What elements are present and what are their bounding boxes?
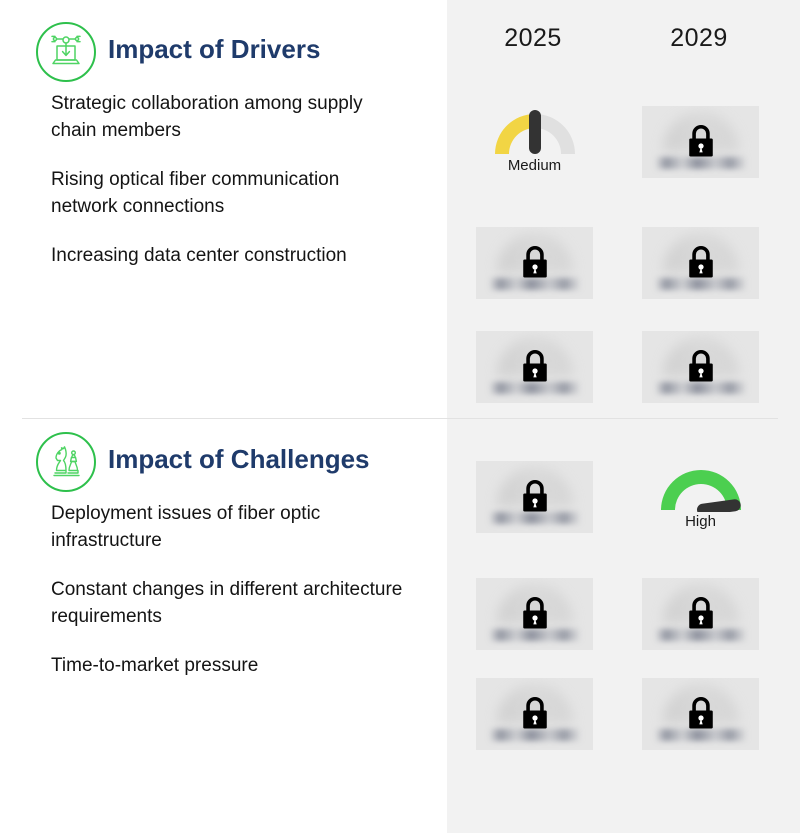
rating-cell-drivers-1-2029[interactable] <box>642 106 759 178</box>
drivers-laptop-gear-icon <box>36 22 96 82</box>
gauge-high: High <box>642 462 759 548</box>
lock-icon <box>518 695 552 731</box>
locked-placeholder[interactable] <box>476 227 593 299</box>
driver-item: Strategic collaboration among supply cha… <box>51 90 407 144</box>
locked-placeholder[interactable] <box>642 106 759 178</box>
locked-placeholder[interactable] <box>476 678 593 750</box>
challenge-item: Constant changes in different architectu… <box>51 576 407 630</box>
challenges-list: Deployment issues of fiber optic infrast… <box>0 500 447 679</box>
lock-icon <box>518 478 552 514</box>
locked-placeholder[interactable] <box>642 678 759 750</box>
gauge-high-label: High <box>685 513 716 530</box>
rating-cell-challenges-2-2025[interactable] <box>476 578 593 650</box>
section-challenges: Impact of Challenges Deployment issues o… <box>0 432 447 679</box>
lock-icon <box>684 695 718 731</box>
rating-cell-challenges-3-2029[interactable] <box>642 678 759 750</box>
rating-cell-drivers-1-2025[interactable]: Medium <box>476 106 593 192</box>
rating-cell-drivers-2-2029[interactable] <box>642 227 759 299</box>
locked-placeholder[interactable] <box>642 331 759 403</box>
locked-placeholder[interactable] <box>476 578 593 650</box>
challenge-item: Deployment issues of fiber optic infrast… <box>51 500 407 554</box>
lock-icon <box>518 348 552 384</box>
locked-placeholder[interactable] <box>642 578 759 650</box>
section-divider <box>22 418 778 419</box>
rating-cell-drivers-3-2025[interactable] <box>476 331 593 403</box>
challenge-item: Time-to-market pressure <box>51 652 407 679</box>
challenges-title: Impact of Challenges <box>108 444 370 475</box>
gauge-medium-dial <box>491 106 579 156</box>
column-header-2029: 2029 <box>634 24 764 53</box>
challenges-chess-icon <box>36 432 96 492</box>
rating-cell-challenges-2-2029[interactable] <box>642 578 759 650</box>
locked-placeholder[interactable] <box>642 227 759 299</box>
gauge-high-dial <box>657 462 745 512</box>
lock-icon <box>684 595 718 631</box>
gauge-medium-needle <box>529 110 541 154</box>
locked-placeholder[interactable] <box>476 331 593 403</box>
challenges-header: Impact of Challenges <box>0 432 447 494</box>
gauge-medium: Medium <box>476 106 593 192</box>
section-drivers: Impact of Drivers Strategic collaboratio… <box>0 22 447 269</box>
rating-cell-drivers-3-2029[interactable] <box>642 331 759 403</box>
gauge-high-needle <box>696 498 741 512</box>
lock-icon <box>684 244 718 280</box>
lock-icon <box>518 244 552 280</box>
rating-cell-drivers-2-2025[interactable] <box>476 227 593 299</box>
rating-cell-challenges-1-2025[interactable] <box>476 461 593 533</box>
drivers-list: Strategic collaboration among supply cha… <box>0 90 447 269</box>
locked-placeholder[interactable] <box>476 461 593 533</box>
lock-icon <box>684 348 718 384</box>
rating-cell-challenges-3-2025[interactable] <box>476 678 593 750</box>
gauge-medium-label: Medium <box>508 157 561 174</box>
drivers-title: Impact of Drivers <box>108 34 320 65</box>
lock-icon <box>518 595 552 631</box>
impact-dashboard: 2025 2029 Impact of Drivers <box>0 0 800 833</box>
rating-cell-challenges-1-2029[interactable]: High <box>642 462 759 548</box>
drivers-header: Impact of Drivers <box>0 22 447 84</box>
column-header-2025: 2025 <box>468 24 598 53</box>
lock-icon <box>684 123 718 159</box>
driver-item: Rising optical fiber communication netwo… <box>51 166 407 220</box>
driver-item: Increasing data center construction <box>51 242 407 269</box>
